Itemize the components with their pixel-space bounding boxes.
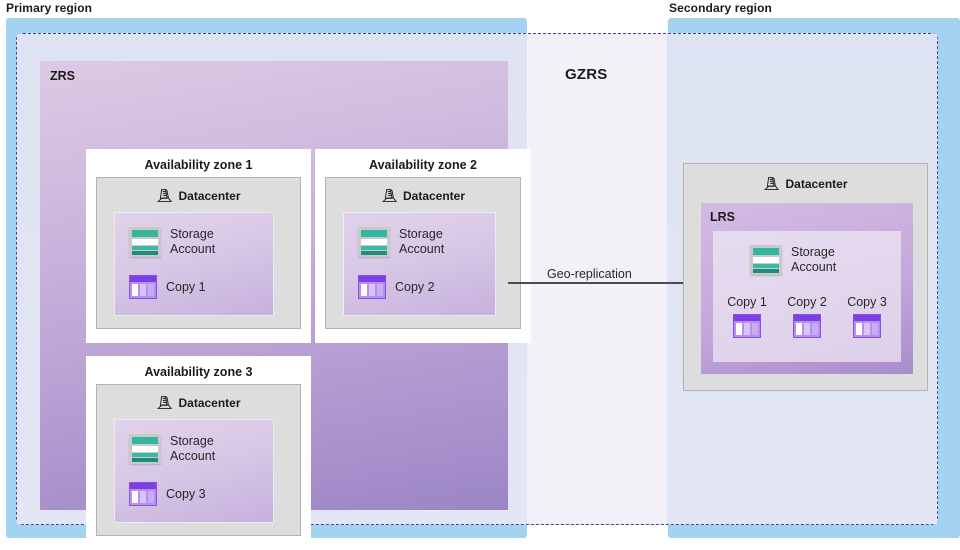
- copy-label: Copy 1: [166, 280, 206, 295]
- copy-label: Copy 2: [787, 295, 827, 309]
- availability-zone-1-title: Availability zone 1: [86, 158, 311, 172]
- datacenter-label: Datacenter: [403, 189, 465, 203]
- copy-row-zone-3: Copy 3: [129, 482, 206, 506]
- lrs-copy-1: Copy 1: [719, 295, 775, 338]
- availability-zone-2-title: Availability zone 2: [315, 158, 531, 172]
- datacenter-icon: [381, 187, 398, 204]
- secondary-datacenter-box: Datacenter LRS Storage Account Copy 1: [683, 163, 928, 391]
- datacenter-icon: [156, 394, 173, 411]
- copy-row-zone-2: Copy 2: [358, 275, 435, 299]
- storage-account-icon: [750, 245, 782, 275]
- copy-label: Copy 3: [166, 487, 206, 502]
- storage-account-label: Storage Account: [399, 227, 444, 257]
- datacenter-header-zone-3: Datacenter: [97, 394, 300, 411]
- storage-account-icon: [129, 434, 161, 464]
- datacenter-label: Datacenter: [785, 177, 847, 191]
- storage-account-label: Storage Account: [170, 227, 215, 257]
- lrs-copy-2: Copy 2: [779, 295, 835, 338]
- copy-label: Copy 1: [727, 295, 767, 309]
- storage-panel-zone-2: Storage Account Copy 2: [343, 212, 496, 316]
- storage-account-icon: [358, 227, 390, 257]
- storage-account-row-zone-3: Storage Account: [129, 434, 215, 464]
- storage-account-row-zone-2: Storage Account: [358, 227, 444, 257]
- copy-label: Copy 2: [395, 280, 435, 295]
- copy-row-zone-1: Copy 1: [129, 275, 206, 299]
- datacenter-box-zone-1: Datacenter Storage Account Copy 1: [96, 177, 301, 329]
- availability-zone-2-card: Availability zone 2 Datacent: [315, 149, 531, 343]
- secondary-region-label: Secondary region: [669, 1, 772, 15]
- datacenter-icon: [156, 187, 173, 204]
- lrs-container: LRS Storage Account Copy 1: [701, 203, 913, 374]
- datacenter-box-zone-2: Datacenter Storage Account Copy 2: [325, 177, 521, 329]
- gzrs-title: GZRS: [565, 66, 607, 83]
- copy-table-icon: [853, 314, 881, 338]
- copy-table-icon: [129, 275, 157, 299]
- primary-region-label: Primary region: [6, 1, 92, 15]
- storage-account-row-secondary: Storage Account: [750, 245, 836, 275]
- datacenter-header-secondary: Datacenter: [684, 175, 927, 192]
- lrs-inner-panel: Storage Account Copy 1 Copy 2: [713, 231, 901, 362]
- datacenter-box-zone-3: Datacenter Storage Account Copy 3: [96, 384, 301, 536]
- lrs-label: LRS: [710, 210, 735, 224]
- datacenter-label: Datacenter: [178, 396, 240, 410]
- datacenter-label: Datacenter: [178, 189, 240, 203]
- copy-table-icon: [358, 275, 386, 299]
- availability-zone-3-card: Availability zone 3 Datacent: [86, 356, 311, 550]
- storage-account-row-zone-1: Storage Account: [129, 227, 215, 257]
- storage-panel-zone-1: Storage Account Copy 1: [114, 212, 274, 316]
- lrs-copies-group: Copy 1 Copy 2 Copy 3: [719, 295, 895, 338]
- datacenter-header-zone-1: Datacenter: [97, 187, 300, 204]
- copy-table-icon: [793, 314, 821, 338]
- storage-account-label: Storage Account: [791, 245, 836, 275]
- copy-table-icon: [733, 314, 761, 338]
- storage-account-icon: [129, 227, 161, 257]
- storage-panel-zone-3: Storage Account Copy 3: [114, 419, 274, 523]
- availability-zone-3-title: Availability zone 3: [86, 365, 311, 379]
- copy-label: Copy 3: [847, 295, 887, 309]
- availability-zone-1-card: Availability zone 1 Datacent: [86, 149, 311, 343]
- zrs-label: ZRS: [50, 69, 75, 83]
- copy-table-icon: [129, 482, 157, 506]
- diagram-canvas: Primary region Secondary region GZRS ZRS…: [0, 0, 960, 541]
- lrs-copy-3: Copy 3: [839, 295, 895, 338]
- zrs-container: ZRS Availability zone 1: [40, 61, 508, 510]
- datacenter-header-zone-2: Datacenter: [326, 187, 520, 204]
- storage-account-label: Storage Account: [170, 434, 215, 464]
- datacenter-icon: [763, 175, 780, 192]
